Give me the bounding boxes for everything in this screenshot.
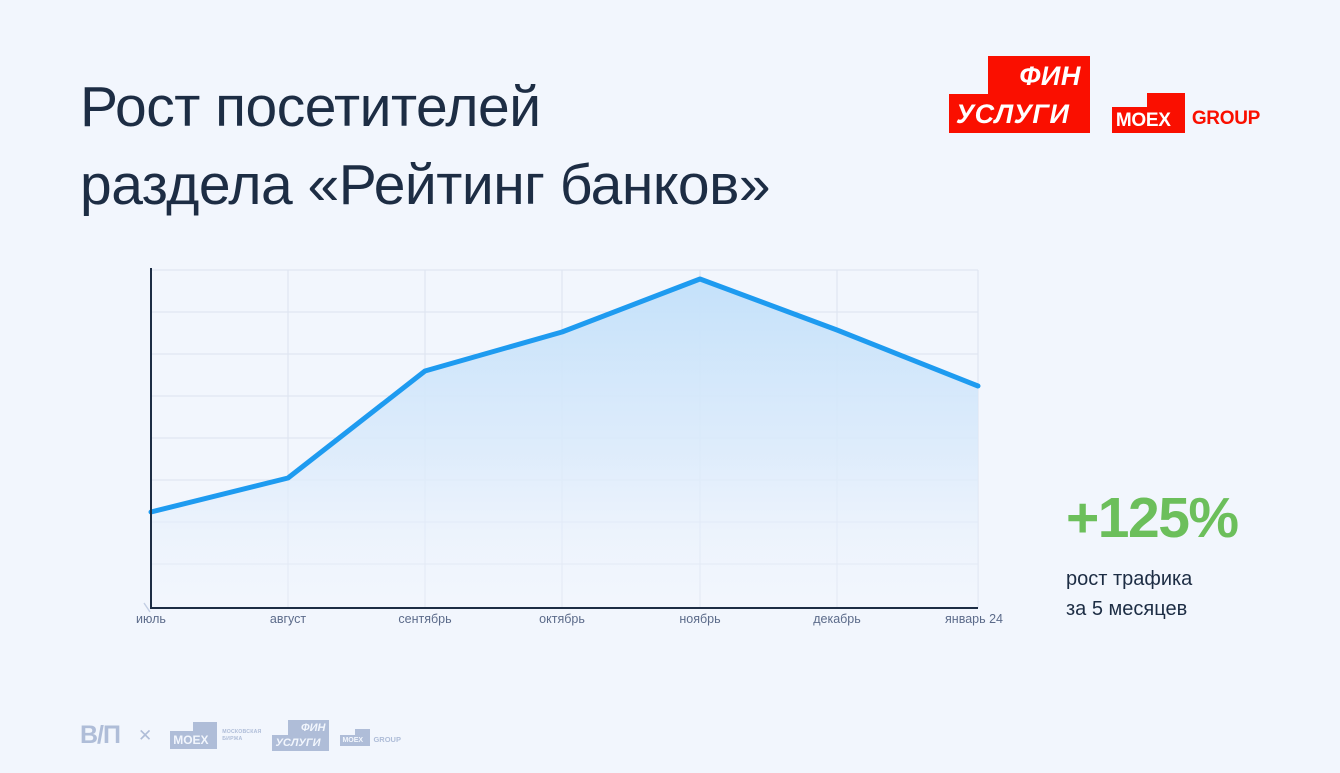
x-label-1: август <box>270 612 306 626</box>
x-label-5: декабрь <box>813 612 861 626</box>
growth-stat-block: +125% рост трафика за 5 месяцев <box>1066 490 1306 624</box>
footer-moex-box: MOEX <box>170 731 217 749</box>
footer-moex-group-label: MOEX <box>342 737 363 744</box>
x-label-3: октябрь <box>539 612 585 626</box>
x-label-0: июль <box>136 612 166 626</box>
footer-moex-group-mark-icon: MOEX <box>340 729 370 746</box>
brand-logo-row: ФИН УСЛУГИ MOEX GROUP <box>949 56 1260 133</box>
agency-logo: В/П <box>80 723 120 748</box>
footer-moex-group-logo: MOEX GROUP <box>340 726 401 746</box>
moex-mark-box: MOEX <box>1112 107 1185 133</box>
x-label-4: ноябрь <box>679 612 720 626</box>
finuslugi-logo-word-fin: ФИН <box>1019 63 1081 90</box>
page-title: Рост посетителей раздела «Рейтинг банков… <box>80 68 900 224</box>
moex-mark-tab <box>1147 93 1185 107</box>
finuslugi-logo-word-uslugi: УСЛУГИ <box>956 101 1070 128</box>
footer-moex-group-word: GROUP <box>373 736 401 744</box>
title-line-2: раздела «Рейтинг банков» <box>80 146 900 224</box>
footer-logo-bar: В/П ✕ MOEX МОСКОВСКАЯ БИРЖА ФИН <box>80 720 401 751</box>
slide-root: Рост посетителей раздела «Рейтинг банков… <box>0 0 1340 773</box>
cross-separator-icon: ✕ <box>138 727 152 744</box>
moex-group-word: GROUP <box>1192 109 1260 128</box>
chart-x-axis-labels: июль август сентябрь октябрь ноябрь дека… <box>110 612 1010 636</box>
footer-moex-subtitle-line-2: БИРЖА <box>222 736 261 743</box>
growth-stat-value: +125% <box>1066 490 1306 547</box>
moex-group-logo: MOEX GROUP <box>1112 85 1260 133</box>
growth-stat-caption: рост трафика за 5 месяцев <box>1066 564 1306 624</box>
footer-finuslugi-bottom-block: УСЛУГИ <box>272 735 329 751</box>
footer-moex-group-box: MOEX <box>340 735 370 746</box>
footer-finuslugi-word-fin: ФИН <box>301 723 325 734</box>
x-label-2: сентябрь <box>398 612 451 626</box>
traffic-growth-chart: июль август сентябрь октябрь ноябрь дека… <box>110 260 1010 640</box>
moex-mark-icon: MOEX <box>1112 93 1185 133</box>
x-label-6: январь 24 <box>945 612 1003 626</box>
footer-moex-subtitle: МОСКОВСКАЯ БИРЖА <box>222 729 261 742</box>
growth-stat-caption-line-1: рост трафика <box>1066 564 1306 594</box>
finuslugi-logo-bottom-block: УСЛУГИ <box>949 94 1090 133</box>
footer-moex-tab <box>193 722 217 731</box>
finuslugi-logo: ФИН УСЛУГИ <box>949 56 1090 133</box>
footer-moex-subtitle-line-1: МОСКОВСКАЯ <box>222 729 261 736</box>
footer-moex-logo: MOEX МОСКОВСКАЯ БИРЖА <box>170 722 261 749</box>
footer-partner-logos: MOEX МОСКОВСКАЯ БИРЖА ФИН УСЛУГИ <box>170 720 401 751</box>
finuslugi-logo-top-block: ФИН <box>988 56 1090 94</box>
footer-finuslugi-top-block: ФИН <box>288 720 329 735</box>
footer-finuslugi-word-uslugi: УСЛУГИ <box>275 738 320 749</box>
chart-area-fill <box>151 279 978 608</box>
growth-stat-caption-line-2: за 5 месяцев <box>1066 594 1306 624</box>
footer-moex-mark-icon: MOEX <box>170 722 217 749</box>
footer-moex-label: MOEX <box>173 734 208 746</box>
footer-finuslugi-logo: ФИН УСЛУГИ <box>272 720 329 751</box>
chart-svg <box>110 260 1010 620</box>
chart-origin-tick <box>144 603 150 612</box>
title-line-1: Рост посетителей <box>80 68 900 146</box>
moex-mark-label: MOEX <box>1116 111 1171 130</box>
